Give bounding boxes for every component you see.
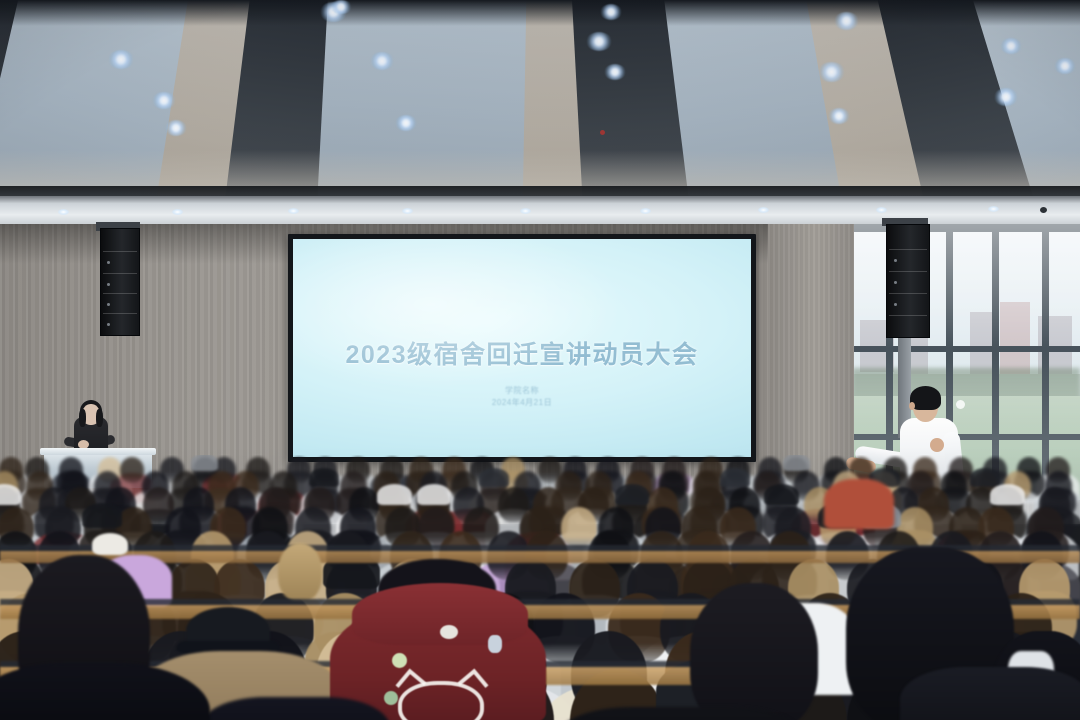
audience-red-shirt — [824, 479, 894, 529]
hoodie-badge-blue-icon — [488, 635, 502, 653]
ceiling-spotlight — [994, 88, 1018, 106]
audience-white-bucket-hat — [92, 533, 128, 555]
audience-person-cap — [479, 468, 509, 487]
ceiling-spotlight — [165, 120, 187, 136]
ceiling-spotlight — [586, 32, 612, 51]
audience-person-cap — [970, 468, 1000, 487]
ceiling-spotlight — [600, 4, 622, 20]
presenter-hair-right-strand — [96, 409, 103, 427]
ceiling-camera-icon — [1040, 207, 1047, 213]
slide-subtitle-org: 学院名称 — [293, 385, 751, 396]
ceiling-sensor-indicator — [600, 130, 605, 135]
audience-crowd — [0, 455, 1080, 720]
standing-man-ear — [909, 402, 915, 410]
speaker-left — [100, 228, 140, 336]
audience-person-cap — [990, 484, 1025, 506]
soffit-downlight — [402, 208, 413, 214]
audience-person-cap — [82, 503, 122, 528]
audience-blonde-head — [278, 543, 322, 601]
ceiling-spotlight — [1000, 38, 1022, 54]
audience-person-cap — [764, 484, 799, 506]
slide-subtitle-date: 2024年4月21日 — [293, 397, 751, 408]
soffit-downlight — [758, 207, 769, 213]
hoodie-badge-white-icon — [440, 625, 458, 639]
slide-title: 2023级宿舍回迁宣讲动员大会 — [293, 335, 751, 371]
ceiling — [0, 0, 1080, 215]
soffit-downlight — [172, 209, 183, 215]
hoodie-badge-flower-icon — [392, 653, 407, 668]
ceiling-spotlight — [108, 50, 134, 69]
soffit-downlight — [876, 207, 887, 213]
ceiling-spotlight — [604, 64, 626, 80]
speaker-right — [886, 224, 930, 338]
hoodie-badge-green-icon — [384, 691, 398, 705]
projection-screen[interactable]: 2023级宿舍回迁宣讲动员大会 学院名称 2024年4月21日 — [293, 239, 751, 457]
soffit-downlight — [58, 209, 69, 215]
soffit-downlight — [288, 208, 299, 214]
soffit-downlight — [520, 208, 531, 214]
ceiling-spotlight — [1054, 58, 1076, 74]
ceiling-spotlight — [828, 108, 850, 124]
audience-person-cap — [783, 455, 810, 471]
soffit-downlight — [988, 206, 999, 212]
soffit-downlight — [640, 208, 651, 214]
ceiling-spotlight — [152, 92, 176, 109]
audience-person-cap — [309, 468, 339, 487]
standing-man-hand — [930, 438, 944, 452]
audience-dark-jacket-right — [900, 667, 1080, 720]
ceiling-spotlight — [818, 62, 845, 82]
audience-person-head — [120, 457, 144, 483]
audience-foreground-head-right2 — [690, 583, 818, 720]
ceiling-spotlight — [395, 115, 417, 131]
podium-top — [40, 448, 156, 455]
presenter-hair-left-strand — [79, 409, 86, 427]
audience-person-cap — [377, 484, 412, 506]
audience-person-cap — [615, 484, 650, 506]
ceiling-spotlight — [370, 52, 394, 70]
audience-maroon-hood — [352, 583, 528, 645]
audience-person-cap — [191, 455, 218, 471]
ceiling-spotlight — [330, 0, 352, 14]
photo-scene: 2023级宿舍回迁宣讲动员大会 学院名称 2024年4月21日 — [0, 0, 1080, 720]
ceiling-spotlight — [834, 12, 859, 30]
ceiling-rear-shadow — [0, 0, 1080, 26]
audience-person-cap — [417, 484, 452, 506]
audience-person-cap — [720, 468, 750, 487]
